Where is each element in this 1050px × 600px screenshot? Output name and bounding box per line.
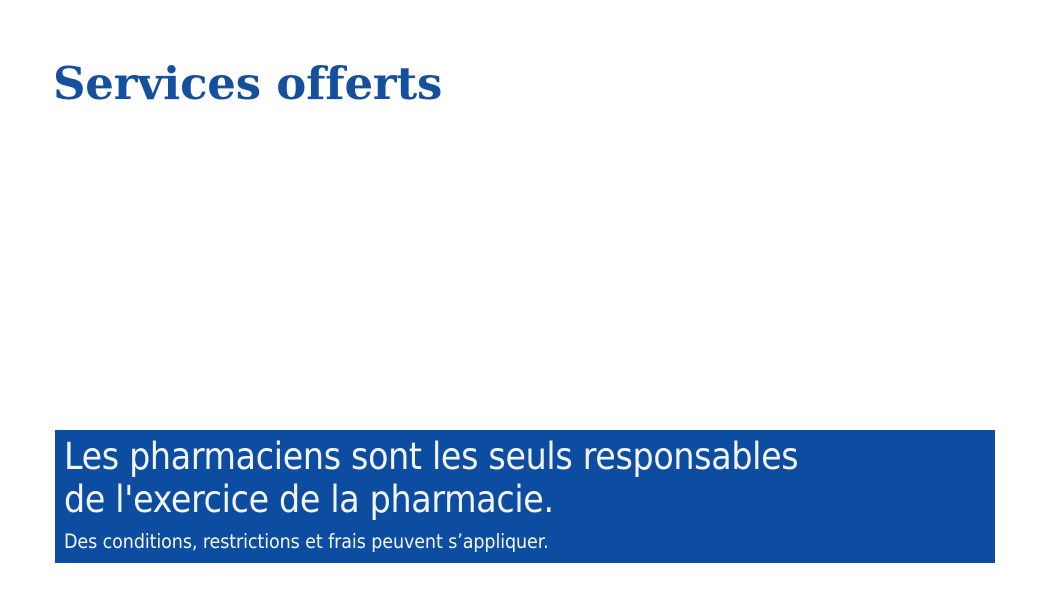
callout-headline-line-1: Les pharmaciens sont les seuls responsab…	[64, 435, 974, 478]
slide-content-area	[55, 130, 995, 420]
page-title: Services offerts	[53, 58, 442, 110]
callout-subtext: Des conditions, restrictions et frais pe…	[64, 530, 974, 554]
callout-headline: Les pharmaciens sont les seuls responsab…	[64, 435, 974, 521]
callout-banner: Les pharmaciens sont les seuls responsab…	[55, 430, 995, 563]
slide: Services offerts Les pharmaciens sont le…	[0, 0, 1050, 600]
callout-headline-line-2: de l'exercice de la pharmacie.	[64, 478, 974, 521]
